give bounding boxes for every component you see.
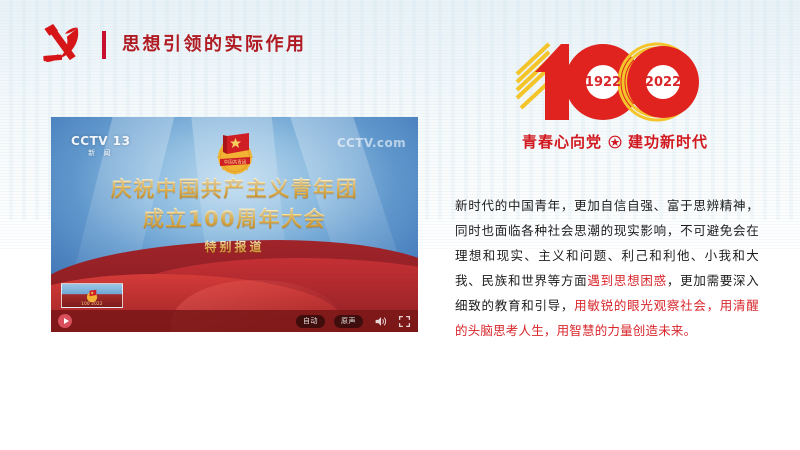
channel-bug-main: CCTV 13	[71, 135, 130, 147]
video-headline: 庆祝中国共产主义青年团 成立100周年大会 特别报道	[51, 177, 418, 255]
headline-line-1: 庆祝中国共产主义青年团	[51, 177, 418, 203]
volume-icon[interactable]	[374, 315, 387, 328]
slogan-left-text: 青春心向党	[522, 135, 602, 150]
communist-youth-league-emblem: 中国共青团	[212, 131, 258, 179]
slide-canvas: 思想引领的实际作用 CCTV 13 新 闻 CCTV.com	[0, 0, 800, 450]
title-divider	[102, 31, 106, 59]
logo-year-start: 1922	[585, 75, 621, 90]
logo-year-end: 2022	[645, 75, 681, 90]
quality-selector-button[interactable]: 自动	[296, 315, 325, 328]
star-in-circle-icon	[608, 135, 622, 149]
logo-slogan: 青春心向党 建功新时代	[515, 131, 715, 153]
cctv13-channel-bug: CCTV 13 新 闻	[71, 135, 130, 157]
slogan-right-text: 建功新时代	[628, 135, 708, 150]
body-paragraph: 新时代的中国青年，更加自信自强、富于思辨精神，同时也面临各种社会思潮的现实影响，…	[455, 193, 759, 343]
cctv-com-watermark: CCTV.com	[337, 136, 406, 150]
video-player[interactable]: CCTV 13 新 闻 CCTV.com	[51, 117, 418, 332]
cpc-hammer-sickle-emblem	[36, 24, 86, 66]
play-button[interactable]	[58, 314, 72, 328]
page-title: 思想引领的实际作用	[122, 36, 307, 54]
audio-track-button[interactable]: 原声	[334, 315, 363, 328]
fullscreen-icon[interactable]	[398, 315, 411, 328]
video-stage: CCTV 13 新 闻 CCTV.com	[51, 117, 418, 332]
logo-gold-ribbons	[517, 44, 549, 108]
headline-line-2: 成立100周年大会	[51, 207, 418, 233]
video-preview-thumbnail[interactable]: 100 2022	[61, 283, 123, 308]
thumbnail-label: 100 2022	[62, 301, 122, 306]
play-triangle-icon	[64, 318, 69, 324]
logo-digit-one	[535, 44, 569, 120]
channel-bug-sub: 新 闻	[71, 150, 130, 157]
slide-header: 思想引领的实际作用	[36, 22, 307, 68]
body-highlight-run: 遇到思想困惑	[587, 273, 666, 288]
light-beam	[285, 117, 416, 330]
anniversary-100-logo: 1922 2022	[515, 38, 715, 124]
video-control-bar[interactable]: 自动 原声	[51, 310, 418, 332]
headline-subtitle: 特别报道	[51, 240, 418, 255]
